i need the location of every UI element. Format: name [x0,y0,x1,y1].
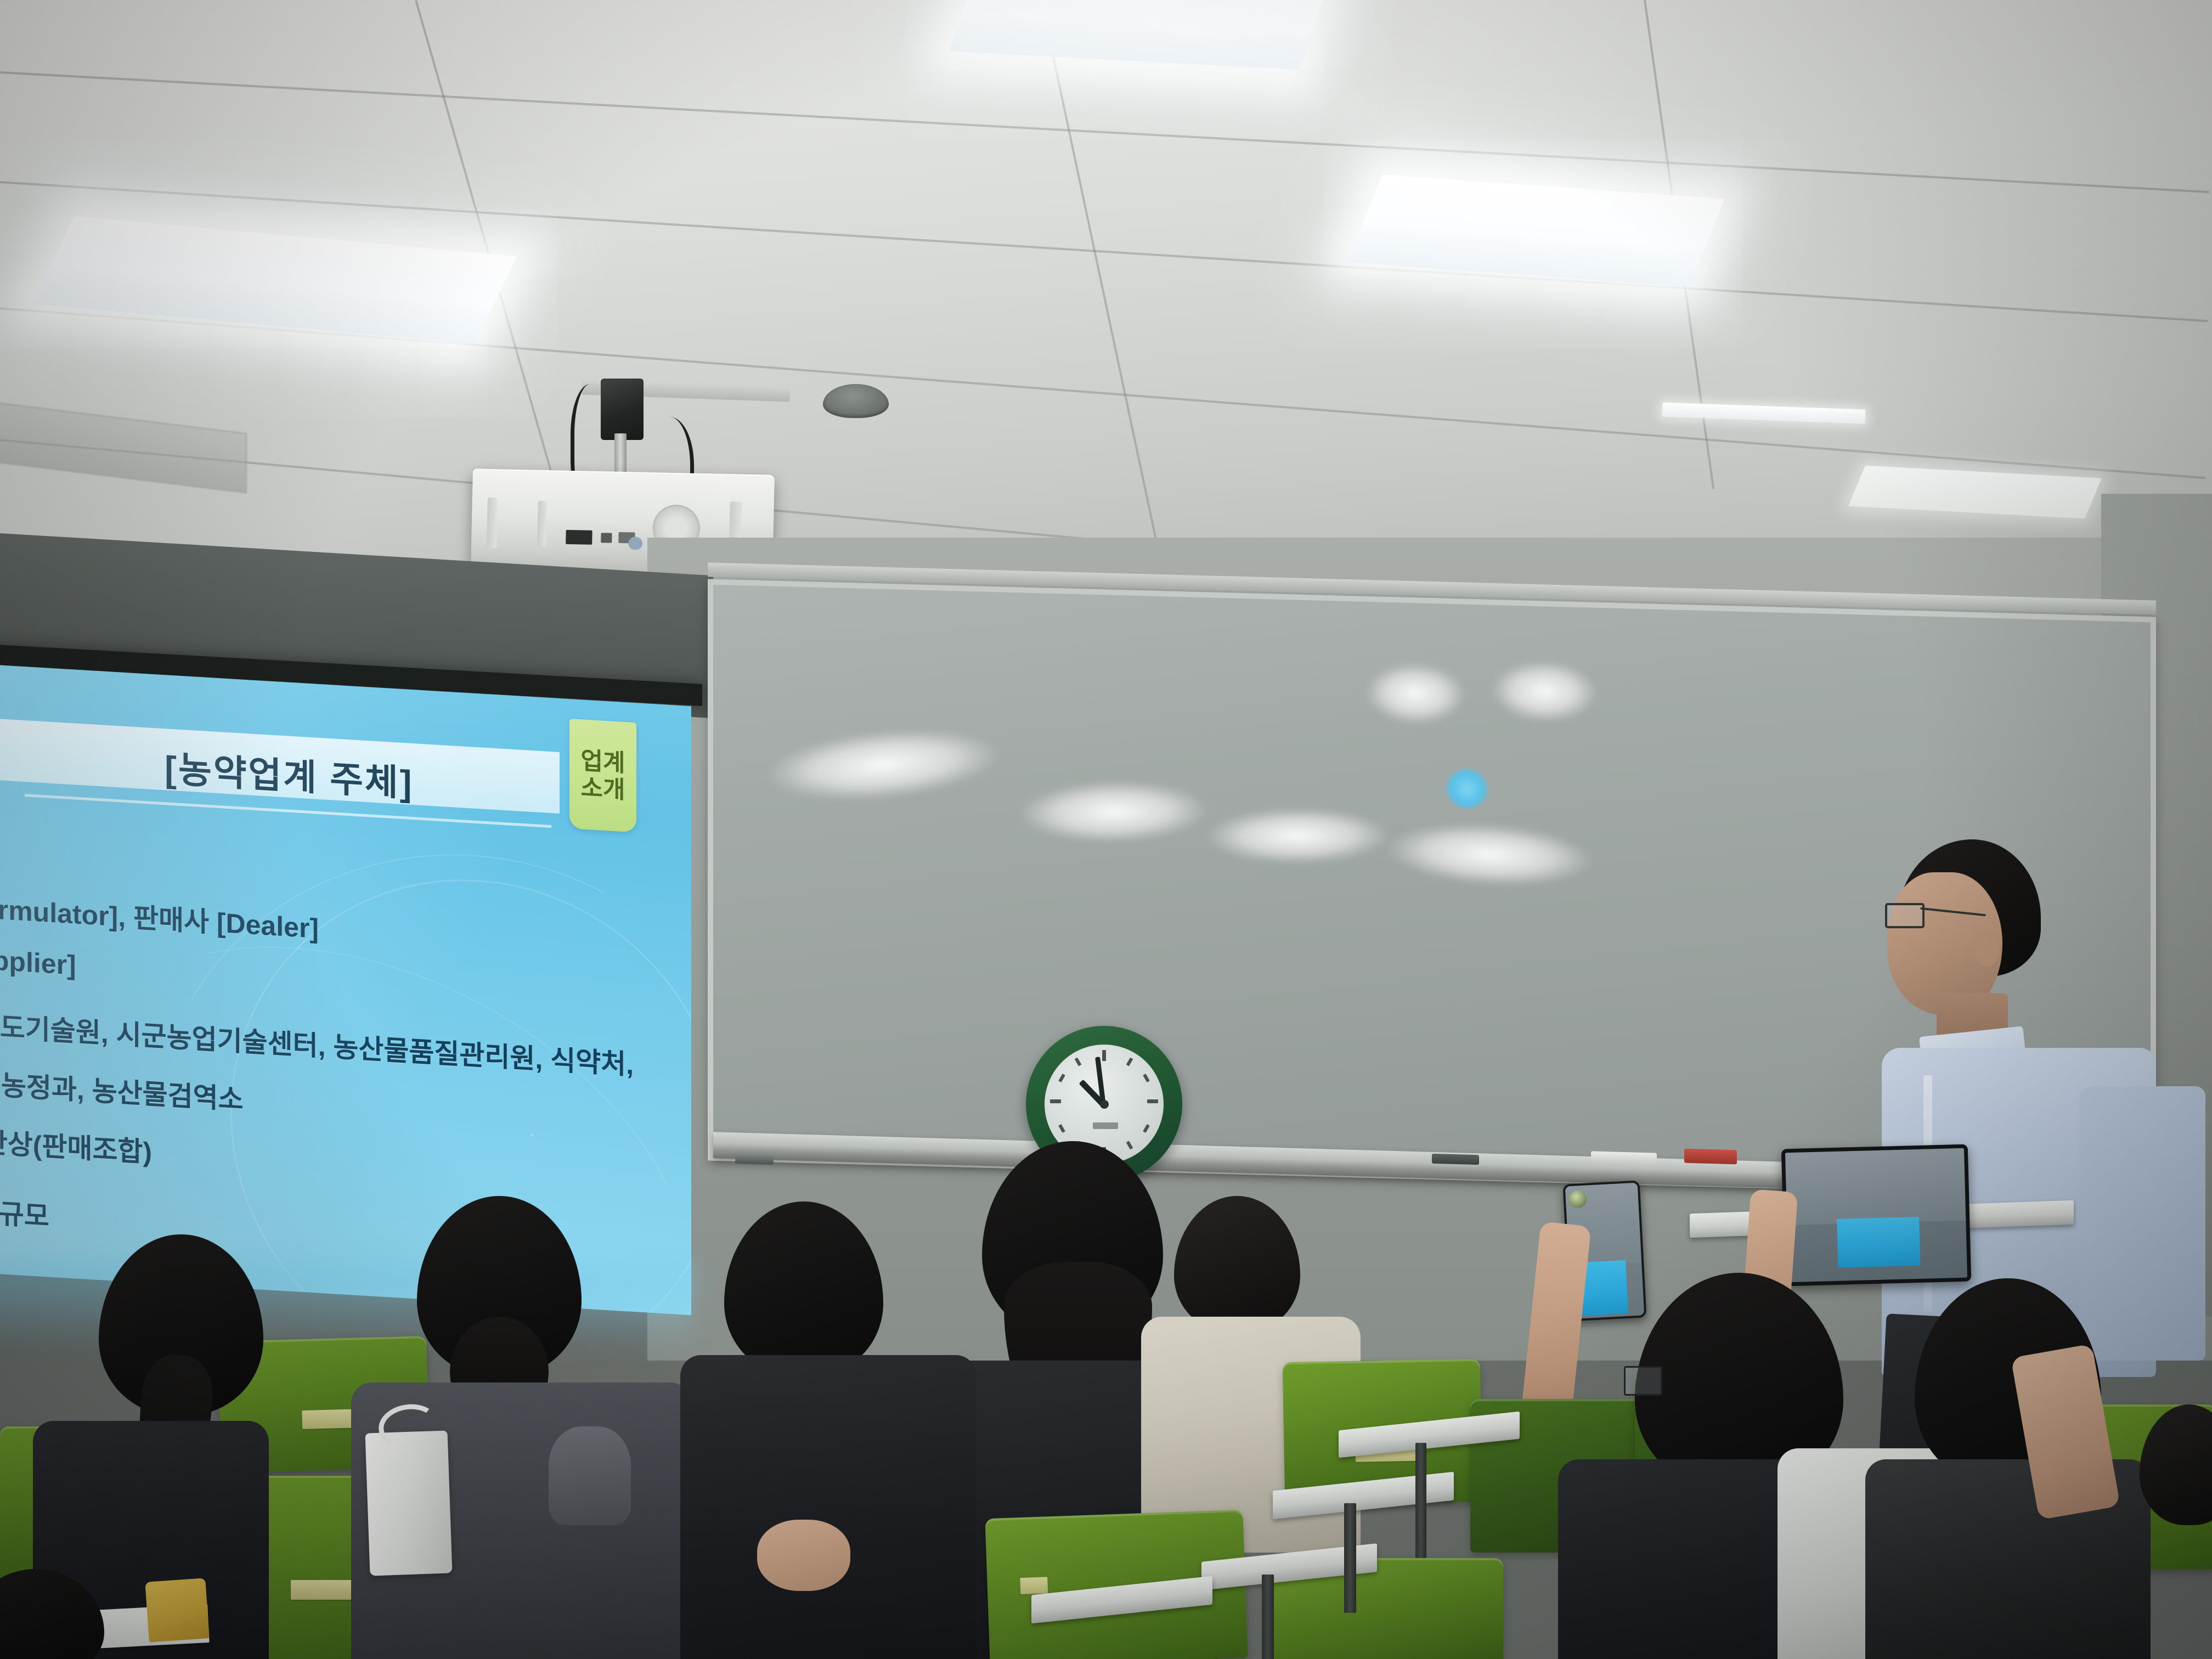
slide-body-line: [Formulator], 판매사 [Dealer] [0,885,319,946]
student-torso [680,1355,977,1659]
whiteboard-light-reflection [765,721,1001,809]
desk-leg [1415,1443,1426,1558]
clock-tick [1126,1141,1133,1150]
whiteboard-light-reflection [1492,660,1596,723]
desk-leg [1344,1503,1356,1613]
clock-tick [1058,1074,1065,1082]
phone-camera-lens-icon [1569,1190,1587,1208]
whiteboard-light-reflection [1019,779,1208,844]
yellow-bag [145,1578,209,1642]
clock-tick [1143,1124,1150,1133]
projector-indicator-icon [628,537,642,550]
slide-tab-line-1: 업계 [581,747,625,777]
marker[interactable] [735,1155,774,1165]
clock-tick [1126,1058,1133,1066]
desk-leg [1262,1575,1274,1659]
clock-tick [1058,1124,1065,1133]
whiteboard-light-reflection [1387,819,1592,891]
clock-brand-mark [1093,1122,1118,1129]
presenter-arm [2079,1086,2205,1361]
clock-tick [1143,1074,1150,1082]
red-marker[interactable] [1684,1149,1737,1165]
presentation-slide: [농약업계 주체] 업계 소개 [Formulator], 판매사 [Deale… [0,663,691,1315]
projector-port [601,533,612,543]
clock-center-pin [1100,1100,1109,1109]
projector-vent [537,501,547,547]
presenter-glasses [1885,903,1925,928]
clock-tick [1075,1058,1082,1066]
student-glasses [1624,1366,1662,1396]
tablet-screen-room [1785,1148,1966,1226]
slide-body-line: Supplier] [0,943,76,981]
lecture-hall-photo: [농약업계 주체] 업계 소개 [Formulator], 판매사 [Deale… [0,0,2212,1659]
whiteboard-light-reflection [1366,662,1465,725]
slide-body-line: 적의 규모 [0,1188,49,1234]
presenter-ear [1975,933,1999,967]
student-scarf [549,1426,631,1525]
white-tumbler[interactable] [365,1430,453,1576]
black-marker[interactable] [1432,1154,1479,1165]
projector-port [566,530,592,545]
whiteboard-blue-reflection [1446,769,1488,809]
whiteboard-eraser[interactable] [1591,1151,1657,1165]
whiteboard-light-reflection [1206,808,1389,864]
projector-vent [487,498,498,548]
slide-tab-line-2: 소개 [581,774,625,804]
clock-tick [1147,1099,1158,1103]
tablet-screen-slide [1837,1217,1920,1268]
tablet-screen[interactable] [1785,1148,1967,1282]
tablet[interactable] [1781,1144,1971,1286]
student-hand [757,1520,850,1591]
clock-tick [1050,1099,1061,1103]
clock-tick [1102,1050,1106,1061]
slide-section-tab: 업계 소개 [569,719,636,832]
seat-number-plate [1020,1577,1048,1594]
